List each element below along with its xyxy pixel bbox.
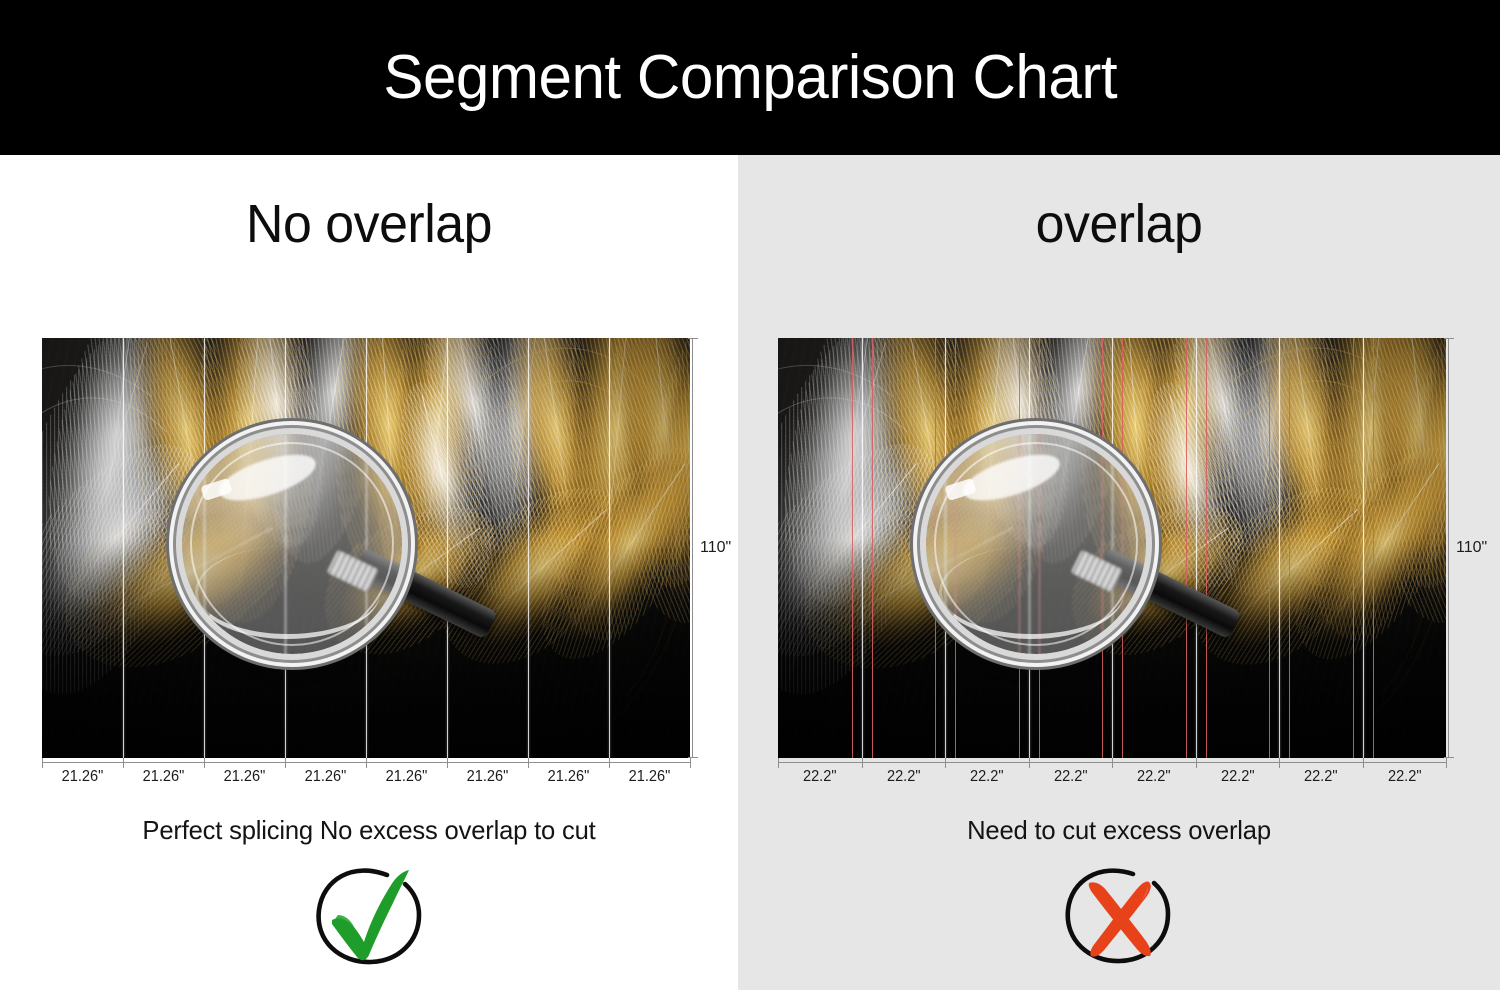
dimension-tick (447, 758, 448, 768)
dimension-tick (688, 338, 698, 339)
panel-heading-overlap: overlap (753, 193, 1485, 255)
caption-overlap: Need to cut excess overlap (744, 815, 1495, 846)
overlap-cut-line (935, 338, 936, 758)
segment-divider (609, 338, 610, 758)
segment-divider (862, 338, 863, 758)
dimension-tick (1444, 338, 1454, 339)
title-bar: Segment Comparison Chart (0, 0, 1500, 155)
dimension-tick (1279, 758, 1280, 768)
dimension-tick (1446, 758, 1447, 768)
segment-width-label: 22.2" (948, 763, 1026, 786)
overlap-cut-line (1122, 338, 1123, 758)
panel-overlap: overlap 110" 22.2"22.2"22.2"22.2"22.2"22… (738, 155, 1500, 990)
dimension-tick (945, 758, 946, 768)
segment-divider (285, 338, 286, 758)
segment-divider (945, 338, 946, 758)
overlap-cut-line (1373, 338, 1374, 758)
overlap-cut-line (1206, 338, 1207, 758)
segment-divider (1196, 338, 1197, 758)
comparison-panels: No overlap 110" 21.26"21.26"21.26"21.26"… (0, 155, 1500, 990)
height-dimension-no-overlap: 110" (692, 338, 718, 758)
dimension-tick (42, 758, 43, 768)
page-title: Segment Comparison Chart (383, 42, 1117, 113)
dimension-tick (690, 758, 691, 768)
segment-divider (366, 338, 367, 758)
segment-width-label: 21.26" (44, 763, 120, 786)
dimension-tick (204, 758, 205, 768)
segment-divider (123, 338, 124, 758)
overlap-cut-line (955, 338, 956, 758)
segment-width-label: 21.26" (206, 763, 282, 786)
segment-width-label: 22.2" (864, 763, 942, 786)
segment-width-label: 21.26" (368, 763, 444, 786)
dimension-tick (609, 758, 610, 768)
dimension-tick (778, 758, 779, 768)
mural-artwork-overlap (778, 338, 1446, 758)
overlap-cut-line (1019, 338, 1020, 758)
panel-no-overlap: No overlap 110" 21.26"21.26"21.26"21.26"… (0, 155, 738, 990)
segment-divider (447, 338, 448, 758)
segment-divider (1279, 338, 1280, 758)
segment-width-label: 22.2" (1282, 763, 1360, 786)
dimension-tick (1029, 758, 1030, 768)
overlap-cut-line (1102, 338, 1103, 758)
overlap-cut-line (1289, 338, 1290, 758)
mural-container-no-overlap: 110" (42, 338, 690, 758)
segment-width-label: 21.26" (611, 763, 687, 786)
overlap-cut-line (1353, 338, 1354, 758)
height-label-no-overlap: 110" (700, 539, 731, 557)
segment-width-label: 22.2" (1198, 763, 1276, 786)
segment-width-label: 22.2" (1115, 763, 1193, 786)
overlap-cut-line (872, 338, 873, 758)
verdict-cross-overlap (1059, 863, 1179, 971)
panel-heading-no-overlap: No overlap (15, 193, 723, 255)
segment-width-label: 21.26" (530, 763, 606, 786)
dimension-tick (285, 758, 286, 768)
height-dimension-overlap: 110" (1448, 338, 1474, 758)
dimension-tick (528, 758, 529, 768)
caption-no-overlap: Perfect splicing No excess overlap to cu… (6, 815, 733, 846)
dimension-rule (1448, 338, 1449, 758)
segment-width-label: 22.2" (781, 763, 859, 786)
verdict-check-no-overlap (309, 863, 429, 971)
segment-divider (1112, 338, 1113, 758)
overlap-cut-line (1186, 338, 1187, 758)
overlap-cut-line (1039, 338, 1040, 758)
segment-divider (1029, 338, 1030, 758)
dimension-tick (1196, 758, 1197, 768)
segment-width-label: 21.26" (449, 763, 525, 786)
dimension-tick (1363, 758, 1364, 768)
dimension-tick (862, 758, 863, 768)
mural-container-overlap: 110" (778, 338, 1446, 758)
segment-divider (1363, 338, 1364, 758)
dimension-tick (1112, 758, 1113, 768)
segment-width-label: 21.26" (125, 763, 201, 786)
width-dimensions-overlap: 22.2"22.2"22.2"22.2"22.2"22.2"22.2"22.2" (778, 762, 1446, 788)
segment-width-label: 22.2" (1031, 763, 1109, 786)
dimension-tick (366, 758, 367, 768)
segment-width-label: 22.2" (1365, 763, 1443, 786)
segment-divider (528, 338, 529, 758)
overlap-cut-line (852, 338, 853, 758)
dimension-rule (692, 338, 693, 758)
height-label-overlap: 110" (1456, 539, 1487, 557)
dimension-tick (123, 758, 124, 768)
width-dimensions-no-overlap: 21.26"21.26"21.26"21.26"21.26"21.26"21.2… (42, 762, 690, 788)
segment-width-label: 21.26" (287, 763, 363, 786)
segment-divider (204, 338, 205, 758)
overlap-cut-line (1269, 338, 1270, 758)
mural-artwork-no-overlap (42, 338, 690, 758)
